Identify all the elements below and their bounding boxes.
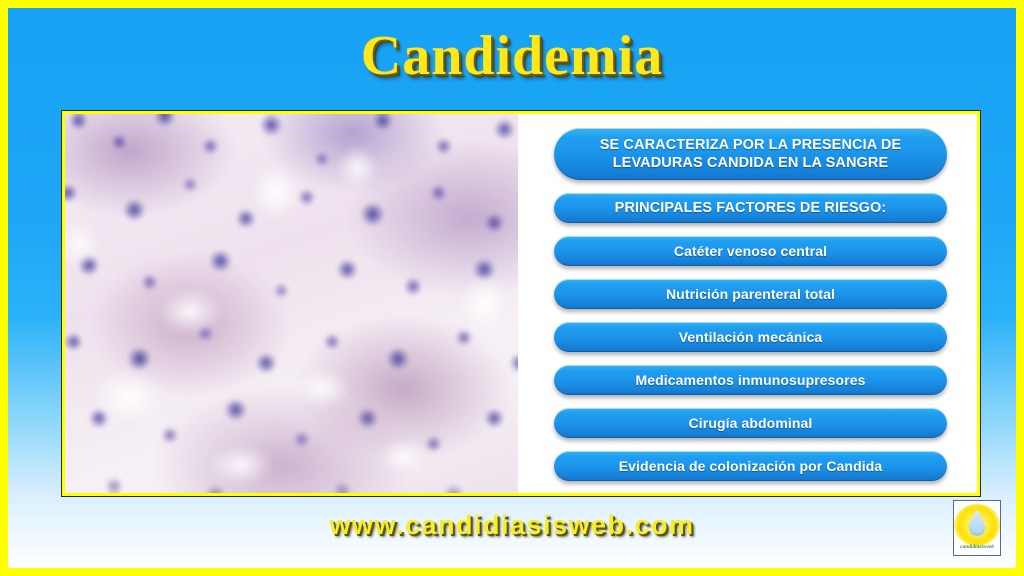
bullet-heading-risk-factors[interactable]: PRINCIPALES FACTORES DE RIESGO: — [554, 193, 947, 223]
bullet-item-evidencia-colonizacion-candida[interactable]: Evidencia de colonización por Candida — [554, 451, 947, 481]
bullet-item-cateter-venoso-central[interactable]: Catéter venoso central — [554, 236, 947, 266]
bullet-lead-definition[interactable]: SE CARACTERIZA POR LA PRESENCIA DE LEVAD… — [554, 128, 947, 180]
content-card: SE CARACTERIZA POR LA PRESENCIA DE LEVAD… — [62, 111, 980, 496]
slide-root: Candidemia SE CARACTERIZA POR LA PRESENC… — [0, 0, 1024, 576]
candida-micrograph-image — [65, 114, 518, 493]
page-title: Candidemia — [8, 24, 1016, 88]
bullet-item-ventilacion-mecanica[interactable]: Ventilación mecánica — [554, 322, 947, 352]
bullet-item-cirugia-abdominal[interactable]: Cirugía abdominal — [554, 408, 947, 438]
footer-website-url[interactable]: www.candidiasisweb.com — [8, 510, 1016, 541]
bullet-list: SE CARACTERIZA POR LA PRESENCIA DE LEVAD… — [518, 114, 977, 493]
bullet-item-medicamentos-inmunosupresores[interactable]: Medicamentos inmunosupresores — [554, 365, 947, 395]
micrograph-focus-blur — [65, 114, 518, 493]
slide-canvas: Candidemia SE CARACTERIZA POR LA PRESENC… — [8, 8, 1016, 568]
bullet-item-nutricion-parenteral-total[interactable]: Nutrición parenteral total — [554, 279, 947, 309]
logo-caption: candidiasisweb — [955, 544, 999, 551]
candidiasisweb-logo[interactable]: candidiasisweb — [953, 500, 1001, 556]
